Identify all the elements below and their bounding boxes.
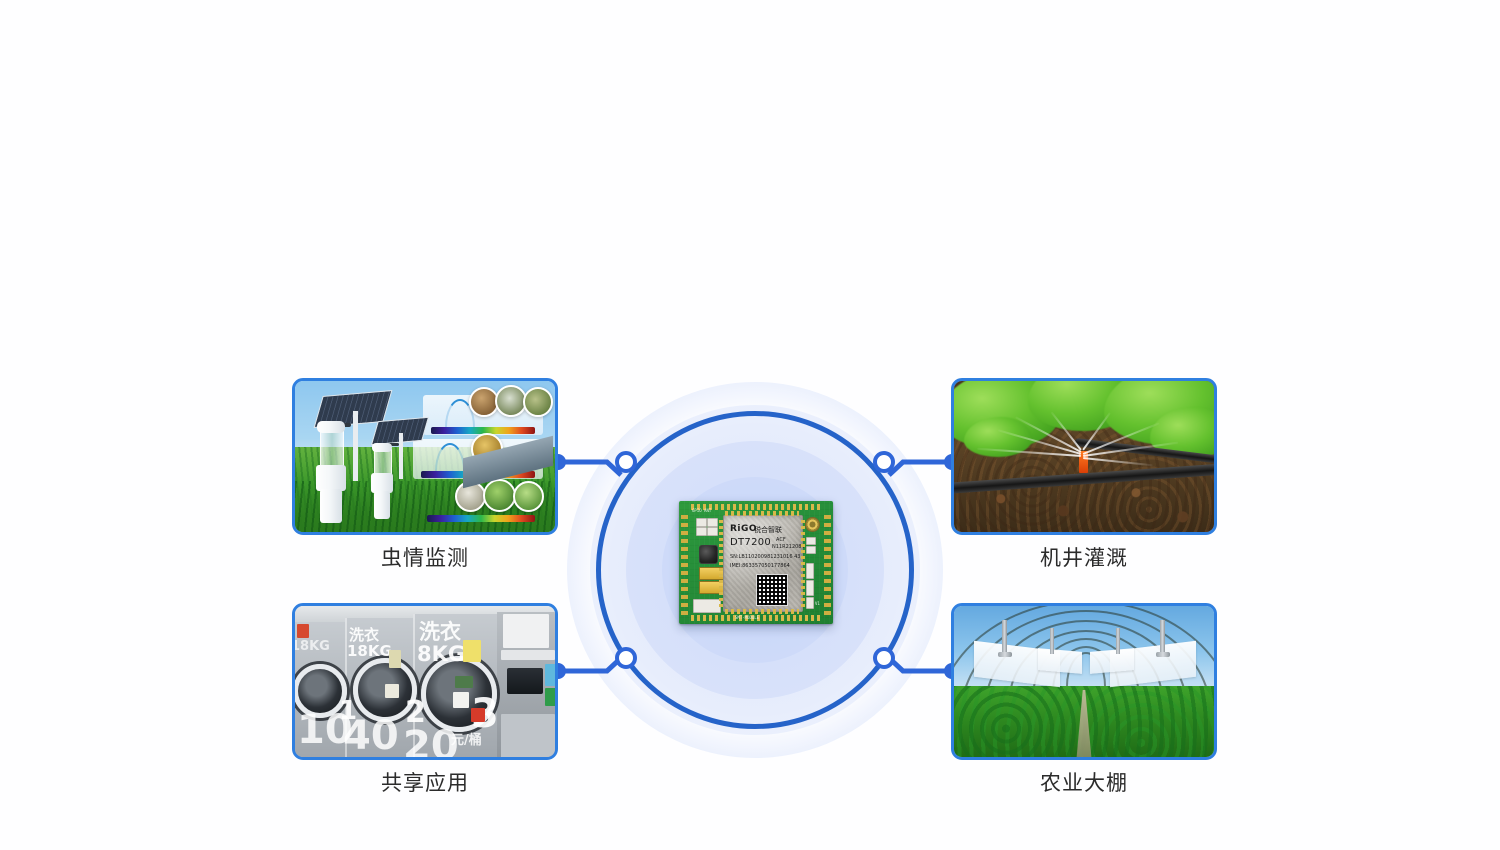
- laundry-text-1: 洗衣: [349, 628, 379, 643]
- laundry-text-2: 洗衣: [419, 622, 461, 643]
- label-agriculture-greenhouse: 农业大棚: [951, 767, 1217, 797]
- scene-agriculture-greenhouse: [954, 606, 1214, 757]
- module-model-code: ACF: [776, 537, 786, 543]
- scene-pest-monitoring: [295, 381, 555, 532]
- module-product-label: DT7200: [730, 537, 771, 548]
- diagram-canvas: 虫情监测 机井灌溉: [0, 0, 1500, 850]
- laundry-price-unit: 元/桶: [451, 734, 482, 747]
- module-shield: RiGO 锐合智联 DT7200 ACF N11R212084 SN:LB110…: [723, 515, 803, 612]
- scene-well-irrigation: [954, 381, 1214, 532]
- laundry-capacity-2: 8KG: [417, 644, 465, 665]
- laundry-price-1: 40: [343, 716, 399, 756]
- card-shared-applications[interactable]: 洗衣 18KG 洗衣 8KG 18KG 1 2 3 10 40 20 元/桶: [292, 603, 558, 760]
- scene-shared-applications: 洗衣 18KG 洗衣 8KG 18KG 1 2 3 10 40 20 元/桶: [295, 606, 555, 757]
- card-well-irrigation[interactable]: [951, 378, 1217, 535]
- iot-module-dt7200[interactable]: RiGO 锐合智联 DT7200 ACF N11R212084 SN:LB110…: [679, 501, 833, 624]
- laundry-capacity-0: 18KG: [292, 640, 330, 653]
- label-well-irrigation: 机井灌溉: [951, 542, 1217, 572]
- module-imei: IMEI:863357050177864: [730, 563, 790, 569]
- module-brand: RiGO: [730, 524, 757, 534]
- label-shared-applications: 共享应用: [292, 767, 558, 797]
- module-serial: SN:LB110200981231016 43: [730, 554, 800, 560]
- module-brand-cn: 锐合智联: [754, 525, 782, 535]
- laundry-capacity-1: 18KG: [347, 644, 392, 659]
- card-agriculture-greenhouse[interactable]: [951, 603, 1217, 760]
- card-pest-monitoring[interactable]: [292, 378, 558, 535]
- module-qr-code: [756, 574, 788, 606]
- module-batch-code: N11R212084: [772, 544, 805, 550]
- label-pest-monitoring: 虫情监测: [292, 542, 558, 572]
